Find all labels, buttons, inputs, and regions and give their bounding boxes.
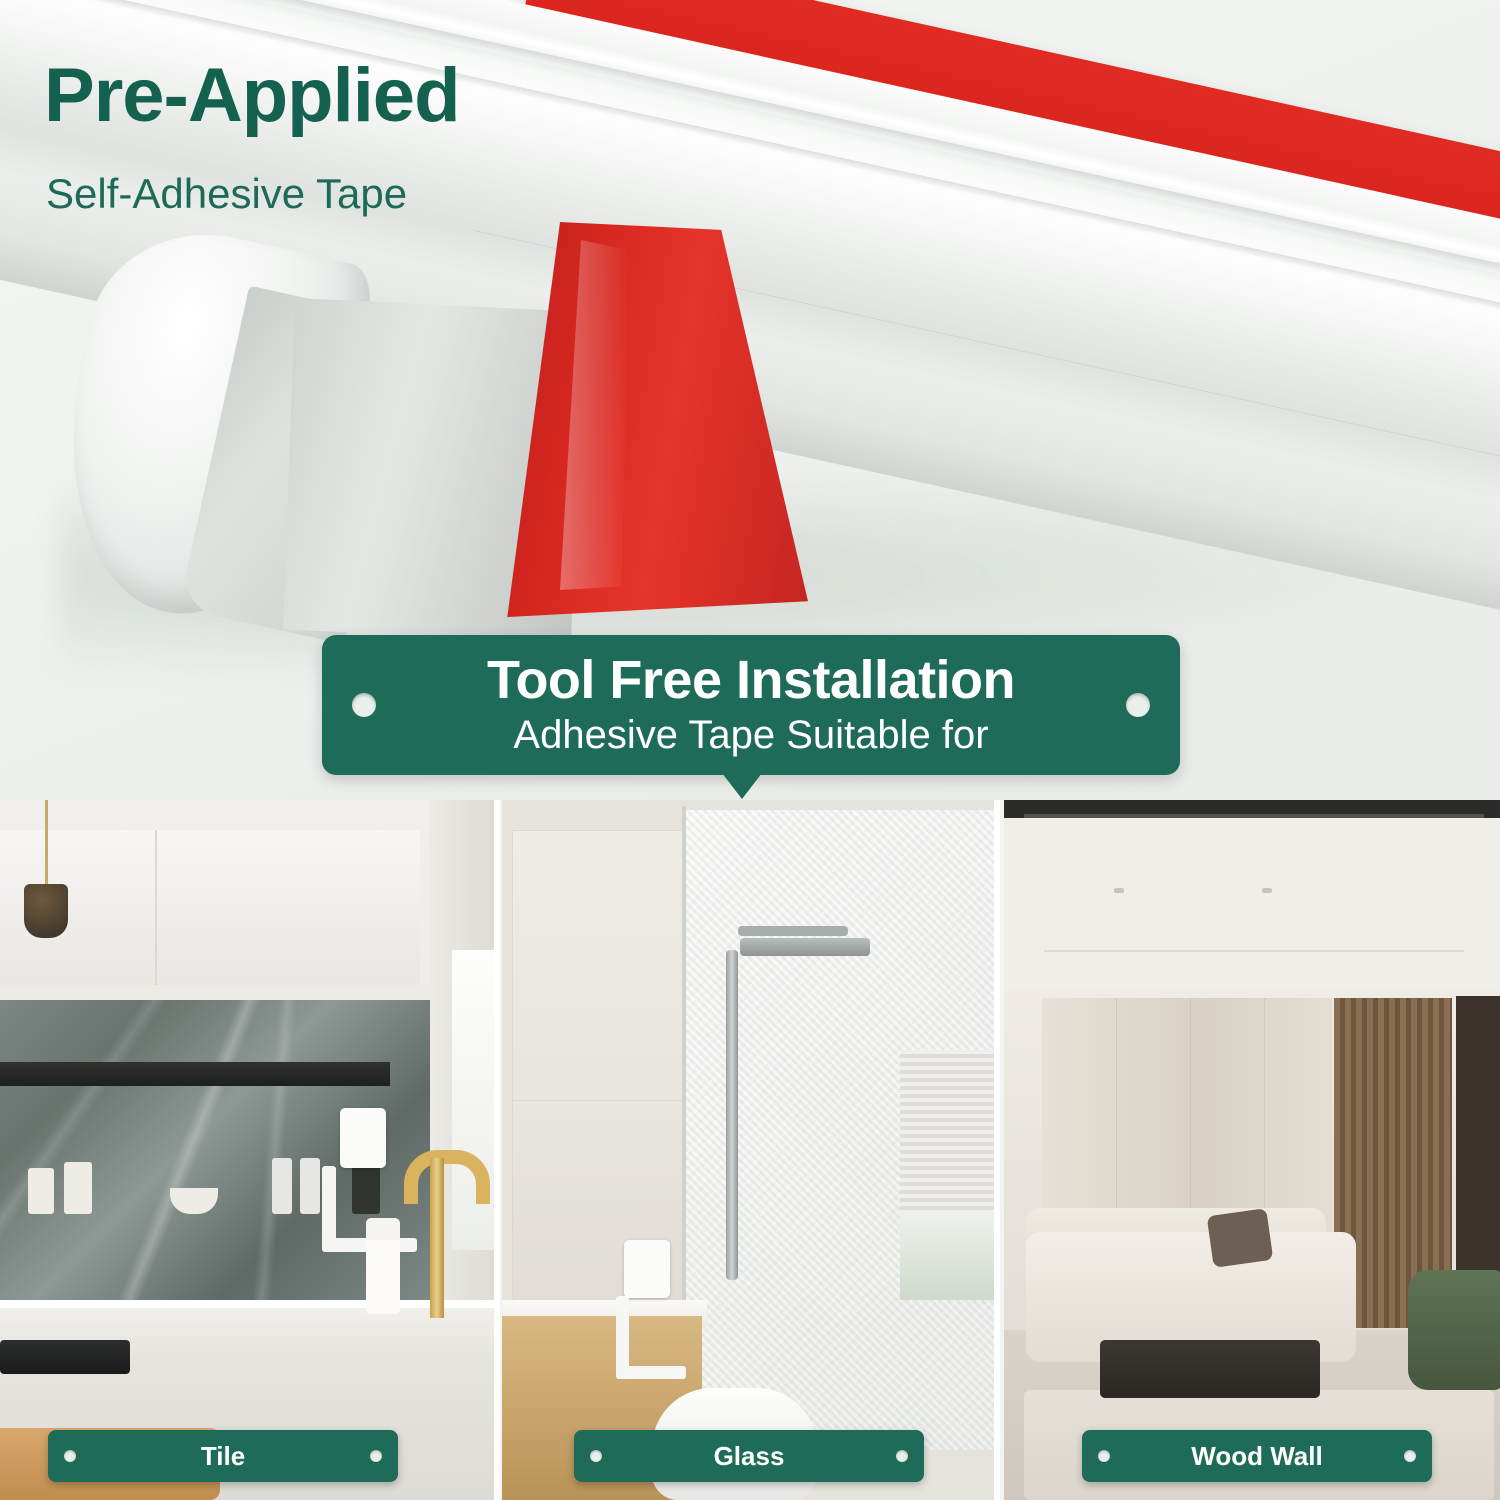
banner-subtitle: Adhesive Tape Suitable for bbox=[322, 713, 1180, 758]
installation-banner: Tool Free Installation Adhesive Tape Sui… bbox=[322, 635, 1180, 775]
surface-label-text: Tile bbox=[201, 1441, 245, 1472]
banner-title: Tool Free Installation bbox=[322, 649, 1180, 711]
faucet-icon bbox=[404, 1150, 490, 1204]
surface-label-text: Glass bbox=[714, 1441, 785, 1472]
wall-outlet-icon bbox=[624, 1240, 670, 1298]
shelf-canister bbox=[352, 1160, 380, 1214]
screw-icon bbox=[1098, 1450, 1110, 1462]
screw-icon bbox=[896, 1450, 908, 1462]
surface-label-glass: Glass bbox=[574, 1430, 924, 1482]
photo-wood-wall: Wood Wall bbox=[1004, 800, 1500, 1500]
throw-pillow bbox=[1207, 1208, 1274, 1268]
cooktop bbox=[0, 1340, 130, 1374]
photo-tile: Tile bbox=[0, 800, 496, 1500]
page-title: Pre-Applied bbox=[44, 58, 460, 134]
surface-label-text: Wood Wall bbox=[1191, 1441, 1322, 1472]
shower-arm bbox=[738, 926, 848, 936]
faucet-stem bbox=[430, 1158, 444, 1318]
green-armchair bbox=[1408, 1270, 1500, 1390]
shower-head-icon bbox=[740, 938, 870, 956]
pendant-light-icon bbox=[24, 884, 68, 938]
shelf-glass bbox=[272, 1158, 292, 1214]
shower-slide-bar bbox=[726, 950, 738, 1280]
ceiling-cove-light bbox=[1024, 814, 1484, 818]
surface-label-wood-wall: Wood Wall bbox=[1082, 1430, 1432, 1482]
countertop-edge bbox=[0, 1300, 496, 1308]
page-subtitle: Self-Adhesive Tape bbox=[46, 170, 407, 218]
ceiling-spotlight-icon bbox=[1262, 888, 1272, 893]
screw-icon bbox=[64, 1450, 76, 1462]
surface-photo-strip: Tile Glass bbox=[0, 800, 1500, 1500]
shelf-jar bbox=[64, 1162, 92, 1214]
kitchen-window bbox=[452, 950, 496, 1250]
screw-icon bbox=[370, 1450, 382, 1462]
cabinet-seam bbox=[155, 830, 157, 985]
pendant-light-cord bbox=[45, 800, 48, 888]
surface-label-tile: Tile bbox=[48, 1430, 398, 1482]
photo-divider bbox=[994, 800, 1000, 1500]
coffee-table bbox=[1100, 1340, 1320, 1398]
screw-icon bbox=[1404, 1450, 1416, 1462]
installed-cable-raceway bbox=[616, 1366, 686, 1379]
wall-outlet-icon bbox=[340, 1108, 386, 1168]
ceiling-reveal-line bbox=[1044, 950, 1464, 952]
banner-pointer bbox=[722, 773, 762, 799]
photo-divider bbox=[494, 800, 500, 1500]
shelf-glass bbox=[300, 1158, 320, 1214]
ceiling-spotlight-icon bbox=[1114, 888, 1124, 893]
photo-glass: Glass bbox=[502, 800, 998, 1500]
living-room-ceiling bbox=[1004, 800, 1500, 1000]
floating-shelf bbox=[0, 1062, 390, 1086]
soap-bottle bbox=[366, 1218, 400, 1314]
window-blind bbox=[900, 1050, 998, 1210]
shelf-jar bbox=[28, 1168, 54, 1214]
screw-icon bbox=[590, 1450, 602, 1462]
product-infographic: Pre-Applied Self-Adhesive Tape Tool Free… bbox=[0, 0, 1500, 1500]
